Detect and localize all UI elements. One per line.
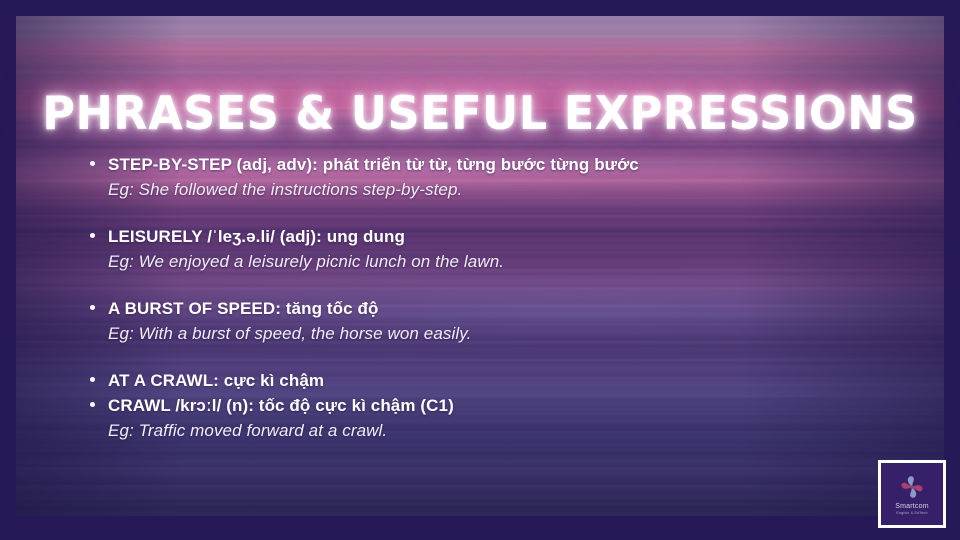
logo-tagline: English & EdTech [896,511,927,516]
bullet-dot-icon [90,377,95,382]
bullet-list: STEP-BY-STEP (adj, adv): phát triển từ t… [78,152,918,443]
logo-name: Smartcom [895,503,929,511]
slide-title: PHRASES & USEFUL EXPRESSIONS [30,86,930,140]
example-sentence: Eg: She followed the instructions step-b… [78,177,918,202]
bullet-text: A BURST OF SPEED: tăng tốc độ [108,299,379,318]
bullet-dot-icon [90,161,95,166]
example-sentence: Eg: Traffic moved forward at a crawl. [78,418,918,443]
slide-content: PHRASES & USEFUL EXPRESSIONS STEP-BY-STE… [16,16,944,516]
bullet-text: CRAWL /krɔːl/ (n): tốc độ cực kì chậm (C… [108,396,454,415]
logo-inner: Smartcom English & EdTech [881,463,943,525]
example-sentence: Eg: With a burst of speed, the horse won… [78,321,918,346]
bullet-group: LEISURELY /ˈleʒ.ə.li/ (adj): ung dung Eg… [78,224,918,274]
bullet-item: A BURST OF SPEED: tăng tốc độ [78,296,918,321]
example-sentence: Eg: We enjoyed a leisurely picnic lunch … [78,249,918,274]
bullet-group: STEP-BY-STEP (adj, adv): phát triển từ t… [78,152,918,202]
bullet-item: AT A CRAWL: cực kì chậm [78,368,918,393]
bullet-text: AT A CRAWL: cực kì chậm [108,371,324,390]
bullet-text: STEP-BY-STEP (adj, adv): phát triển từ t… [108,155,639,174]
pinwheel-swirl-icon [898,473,926,501]
bullet-group: A BURST OF SPEED: tăng tốc độ Eg: With a… [78,296,918,346]
bullet-group: AT A CRAWL: cực kì chậm CRAWL /krɔːl/ (n… [78,368,918,443]
bullet-item: LEISURELY /ˈleʒ.ə.li/ (adj): ung dung [78,224,918,249]
bullet-dot-icon [90,305,95,310]
bullet-dot-icon [90,402,95,407]
bullet-dot-icon [90,233,95,238]
bullet-text: LEISURELY /ˈleʒ.ə.li/ (adj): ung dung [108,227,405,246]
bullet-item: CRAWL /krɔːl/ (n): tốc độ cực kì chậm (C… [78,393,918,418]
brand-logo: Smartcom English & EdTech [878,460,946,528]
slide: PHRASES & USEFUL EXPRESSIONS STEP-BY-STE… [0,0,960,540]
bullet-item: STEP-BY-STEP (adj, adv): phát triển từ t… [78,152,918,177]
